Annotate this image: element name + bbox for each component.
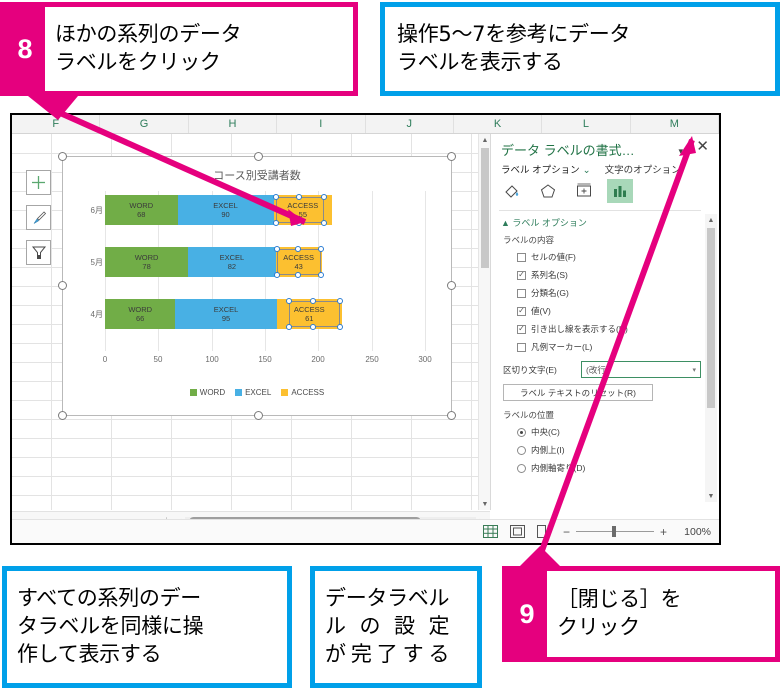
normal-view-icon[interactable] xyxy=(482,524,499,540)
checkbox-row-value[interactable]: ✓ 値(V) xyxy=(517,305,701,317)
callout-9-tail xyxy=(520,546,560,566)
bar-label-series-word-2: WORD xyxy=(128,305,152,314)
bar-segment-word-1[interactable]: WORD 78 xyxy=(105,247,188,277)
callout-step-9-body: ［閉じる］を クリック xyxy=(547,571,775,657)
bar-label-value-excel-1: 82 xyxy=(228,262,236,271)
bar-segment-access-0[interactable]: ACCESS 55 xyxy=(274,195,333,225)
callout-top-right-body: 操作5〜7を参考にデータ ラベルを表示する xyxy=(385,7,775,91)
legend-swatch-excel xyxy=(235,389,242,396)
x-axis[interactable]: 0 50 100 150 200 250 300 xyxy=(105,355,425,367)
data-label-selection-0[interactable] xyxy=(276,197,325,223)
callout-top-right: 操作5〜7を参考にデータ ラベルを表示する xyxy=(380,2,780,96)
x-tick-6: 300 xyxy=(418,355,431,364)
bar-label-series-word-1: WORD xyxy=(135,253,159,262)
pane-tab-bar: ラベル オプション⌄ 文字のオプション xyxy=(501,162,681,176)
callout-top-right-text: 操作5〜7を参考にデータ ラベルを表示する xyxy=(397,21,630,76)
brush-icon xyxy=(31,210,47,226)
status-bar: − + 100% xyxy=(12,519,719,543)
checkbox-row-leader-lines[interactable]: ✓ 引き出し線を表示する(H) xyxy=(517,323,701,335)
zoom-level-label[interactable]: 100% xyxy=(677,526,711,538)
data-label-selection-1[interactable] xyxy=(277,249,321,275)
callout-bottom-middle: データラベル ル の 設 定 が完了する xyxy=(310,566,482,688)
zoom-control[interactable]: − + xyxy=(563,525,667,539)
page-break-view-icon[interactable] xyxy=(536,524,553,540)
checkbox-leader-lines[interactable]: ✓ xyxy=(517,325,526,334)
checkbox-legend-key[interactable] xyxy=(517,343,526,352)
separator-dropdown[interactable]: (改行) ▾ xyxy=(581,361,701,378)
bar-label-value-excel-0: 90 xyxy=(221,210,229,219)
radio-label-inside-end: 内側上(I) xyxy=(531,444,565,456)
checkbox-label-leader-lines: 引き出し線を表示する(H) xyxy=(531,323,628,335)
column-header-row: F G H I J K L M xyxy=(12,115,719,134)
bar-segment-access-1[interactable]: ACCESS 43 xyxy=(276,247,322,277)
label-options-icon[interactable] xyxy=(607,179,633,203)
zoom-slider[interactable] xyxy=(576,531,654,532)
callout-step-8-body: ほかの系列のデータ ラベルをクリック xyxy=(45,7,353,91)
checkbox-row-legend-key[interactable]: 凡例マーカー(L) xyxy=(517,341,701,353)
chart-handle-bl[interactable] xyxy=(58,411,67,420)
pane-vertical-scrollbar[interactable]: ▲ ▼ xyxy=(705,214,717,502)
bar-row-1[interactable]: WORD 78 EXCEL 82 ACCESS 43 xyxy=(105,247,322,277)
x-tick-5: 250 xyxy=(365,355,378,364)
column-header-m[interactable]: M xyxy=(631,115,719,133)
chart-title[interactable]: コース別受講者数 xyxy=(63,167,451,183)
bar-label-series-excel-0: EXCEL xyxy=(213,201,238,210)
zoom-in-button[interactable]: + xyxy=(660,525,667,539)
effects-icon[interactable] xyxy=(535,179,561,203)
legend-label-word: WORD xyxy=(200,388,225,397)
label-position-heading: ラベルの位置 xyxy=(503,409,701,421)
chart-handle-tr[interactable] xyxy=(447,152,456,161)
zoom-out-button[interactable]: − xyxy=(563,525,570,539)
legend-swatch-word xyxy=(190,389,197,396)
column-header-k[interactable]: K xyxy=(454,115,542,133)
checkbox-row-cell-value[interactable]: セルの値(F) xyxy=(517,251,701,263)
pane-scroll-up-icon[interactable]: ▲ xyxy=(705,214,717,226)
separator-dropdown-value: (改行) xyxy=(586,364,609,376)
column-header-j[interactable]: J xyxy=(366,115,454,133)
column-header-f[interactable]: F xyxy=(12,115,100,133)
pane-scroll-thumb[interactable] xyxy=(707,228,715,408)
pane-scroll-down-icon[interactable]: ▼ xyxy=(705,490,717,502)
checkbox-label-category-name: 分類名(G) xyxy=(531,287,569,299)
category-label-0: 6月 xyxy=(77,205,103,216)
checkbox-label-cell-value: セルの値(F) xyxy=(531,251,576,263)
legend-item-access[interactable]: ACCESS xyxy=(281,388,324,397)
worksheet-grid[interactable]: コース別受講者数 6月 WORD 68 EXCE xyxy=(12,134,490,510)
callout-bottom-middle-body: データラベル ル の 設 定 が完了する xyxy=(315,571,477,683)
zoom-slider-knob[interactable] xyxy=(612,526,616,537)
column-header-h[interactable]: H xyxy=(189,115,277,133)
chevron-down-icon: ⌄ xyxy=(583,165,591,176)
chart-styles-button[interactable] xyxy=(26,205,51,230)
plus-icon xyxy=(31,175,46,190)
bar-segment-excel-0[interactable]: EXCEL 90 xyxy=(178,195,274,225)
bar-label-value-word-1: 78 xyxy=(142,262,150,271)
funnel-icon xyxy=(31,245,47,261)
pane-title: データ ラベルの書式… xyxy=(501,140,635,159)
pane-body: ラベルの内容 セルの値(F) ✓ 系列名(S) 分類名(G) ✓ 値(V) ✓ … xyxy=(503,234,701,480)
callout-bottom-middle-text: データラベル ル の 設 定 が完了する xyxy=(325,585,449,668)
pane-icon-tabs xyxy=(499,179,633,203)
legend-swatch-access xyxy=(281,389,288,396)
column-header-i[interactable]: I xyxy=(277,115,365,133)
chart-handle-ml[interactable] xyxy=(58,281,67,290)
chart-handle-bc[interactable] xyxy=(254,411,263,420)
separator-field-label: 区切り文字(E) xyxy=(503,364,581,376)
bar-label-series-word-0: WORD xyxy=(129,201,153,210)
callout-step-8: 8 ほかの系列のデータ ラベルをクリック xyxy=(0,2,358,96)
callout-bottom-left-text: すべての系列のデー タラベルを同様に操 作して表示する xyxy=(17,585,203,668)
callout-step-9: 9 ［閉じる］を クリック xyxy=(502,566,780,662)
column-header-l[interactable]: L xyxy=(542,115,630,133)
bar-row-0[interactable]: WORD 68 EXCEL 90 ACCESS 55 xyxy=(105,195,332,225)
x-tick-3: 150 xyxy=(258,355,271,364)
data-label-selection-2[interactable] xyxy=(289,301,340,327)
radio-row-inside-base[interactable]: 内側軸寄り(D) xyxy=(517,462,701,474)
tab-text-options[interactable]: 文字のオプション xyxy=(605,162,681,176)
size-properties-icon[interactable] xyxy=(571,179,597,203)
close-icon[interactable]: ✕ xyxy=(696,139,709,154)
radio-row-center[interactable]: 中央(C) xyxy=(517,426,701,438)
radio-row-inside-end[interactable]: 内側上(I) xyxy=(517,444,701,456)
pane-divider xyxy=(499,210,701,211)
separator-field-row: 区切り文字(E) (改行) ▾ xyxy=(503,361,701,378)
radio-center[interactable] xyxy=(517,428,526,437)
bar-label-series-excel-1: EXCEL xyxy=(220,253,245,262)
page-layout-view-icon[interactable] xyxy=(509,524,526,540)
legend-item-word[interactable]: WORD xyxy=(190,388,225,397)
bar-label-series-excel-2: EXCEL xyxy=(214,305,239,314)
x-tick-0: 0 xyxy=(103,355,107,364)
chart-tool-buttons xyxy=(26,170,51,265)
radio-inside-base[interactable] xyxy=(517,464,526,473)
format-data-labels-pane: データ ラベルの書式… ▾ ✕ ラベル オプション⌄ 文字のオプション xyxy=(490,134,719,510)
pane-options-caret-icon[interactable]: ▾ xyxy=(678,146,683,157)
chart-handle-br[interactable] xyxy=(447,411,456,420)
pane-section-title[interactable]: ▲ ラベル オプション xyxy=(501,216,587,229)
x-tick-2: 100 xyxy=(205,355,218,364)
callout-bottom-left-body: すべての系列のデー タラベルを同様に操 作して表示する xyxy=(7,571,287,683)
radio-label-inside-base: 内側軸寄り(D) xyxy=(531,462,585,474)
chart-handle-tc[interactable] xyxy=(254,152,263,161)
category-label-1: 5月 xyxy=(77,257,103,268)
chart-handle-mr[interactable] xyxy=(447,281,456,290)
bar-segment-word-0[interactable]: WORD 68 xyxy=(105,195,178,225)
legend-label-access: ACCESS xyxy=(291,388,324,397)
fill-line-icon[interactable] xyxy=(499,179,525,203)
checkbox-cell-value[interactable] xyxy=(517,253,526,262)
callout-bottom-left: すべての系列のデー タラベルを同様に操 作して表示する xyxy=(2,566,292,688)
radio-inside-end[interactable] xyxy=(517,446,526,455)
excel-window: F G H I J K L M xyxy=(10,113,721,545)
bar-segment-access-2[interactable]: ACCESS 61 xyxy=(277,299,342,329)
bar-label-value-word-0: 68 xyxy=(137,210,145,219)
worksheet-vertical-scrollbar[interactable]: ▲ ▼ xyxy=(478,134,490,510)
checkbox-series-name[interactable]: ✓ xyxy=(517,271,526,280)
checkbox-row-series-name[interactable]: ✓ 系列名(S) xyxy=(517,269,701,281)
column-header-g[interactable]: G xyxy=(100,115,188,133)
x-tick-4: 200 xyxy=(311,355,324,364)
chart-elements-button[interactable] xyxy=(26,170,51,195)
bar-row-2[interactable]: WORD 66 EXCEL 95 ACCESS 61 xyxy=(105,299,342,329)
callout-step-8-number: 8 xyxy=(5,7,45,91)
chevron-down-icon: ▾ xyxy=(692,366,696,374)
chart-handle-tl[interactable] xyxy=(58,152,67,161)
checkbox-label-series-name: 系列名(S) xyxy=(531,269,568,281)
radio-label-center: 中央(C) xyxy=(531,426,560,438)
bar-segment-word-2[interactable]: WORD 66 xyxy=(105,299,175,329)
checkbox-value[interactable]: ✓ xyxy=(517,307,526,316)
bar-label-value-word-2: 66 xyxy=(136,314,144,323)
checkbox-category-name[interactable] xyxy=(517,289,526,298)
checkbox-label-value: 値(V) xyxy=(531,305,551,317)
legend-label-excel: EXCEL xyxy=(245,388,271,397)
callout-step-9-text: ［閉じる］を クリック xyxy=(557,586,681,641)
embedded-chart[interactable]: コース別受講者数 6月 WORD 68 EXCE xyxy=(62,156,452,416)
tab-label-options[interactable]: ラベル オプション⌄ xyxy=(501,162,591,176)
checkbox-row-category-name[interactable]: 分類名(G) xyxy=(517,287,701,299)
bar-segment-excel-2[interactable]: EXCEL 95 xyxy=(175,299,276,329)
label-content-heading: ラベルの内容 xyxy=(503,234,701,246)
vertical-scroll-thumb[interactable] xyxy=(481,148,489,268)
callout-step-8-text: ほかの系列のデータ ラベルをクリック xyxy=(55,21,241,76)
bar-segment-excel-1[interactable]: EXCEL 82 xyxy=(188,247,276,277)
bar-label-value-excel-2: 95 xyxy=(222,314,230,323)
reset-label-text-button[interactable]: ラベル テキストのリセット(R) xyxy=(503,384,653,401)
category-label-2: 4月 xyxy=(77,309,103,320)
x-tick-1: 50 xyxy=(154,355,163,364)
chart-legend[interactable]: WORD EXCEL ACCESS xyxy=(63,388,451,397)
chart-filters-button[interactable] xyxy=(26,240,51,265)
callout-step-9-number: 9 xyxy=(507,571,547,657)
checkbox-label-legend-key: 凡例マーカー(L) xyxy=(531,341,592,353)
chart-plot-area: 6月 WORD 68 EXCEL 90 ACCESS 55 xyxy=(105,191,425,351)
legend-item-excel[interactable]: EXCEL xyxy=(235,388,271,397)
